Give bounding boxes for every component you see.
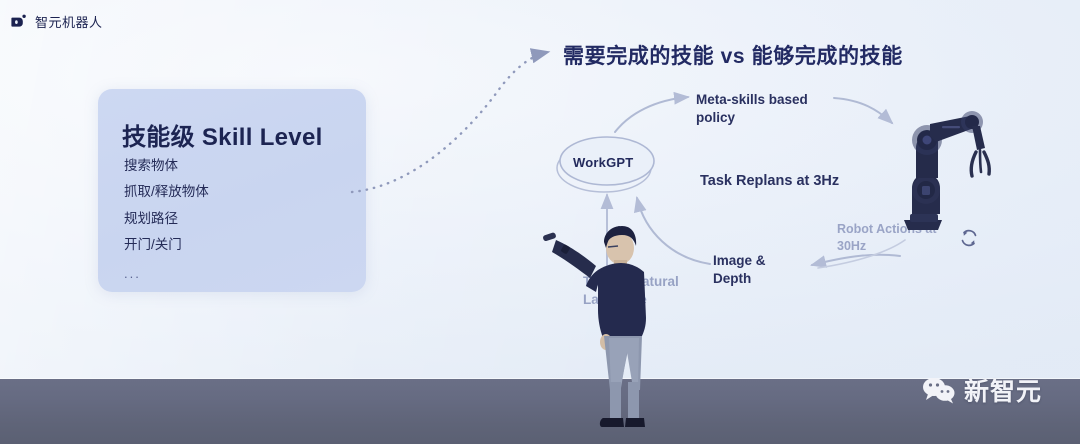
label-meta-skills-policy: Meta-skills based policy [696, 91, 821, 127]
robot-arm-icon [886, 102, 1002, 234]
list-item: 抓取/释放物体 [124, 182, 209, 202]
skill-list: 搜索物体 抓取/释放物体 规划路径 开门/关门 ... [124, 156, 209, 284]
refresh-loop-icon [958, 227, 980, 249]
list-item: 规划路径 [124, 209, 209, 229]
presenter-figure [540, 222, 658, 435]
watermark: 新智元 [922, 372, 1042, 408]
skill-level-panel: 技能级 Skill Level 搜索物体 抓取/释放物体 规划路径 开门/关门 … [98, 89, 366, 292]
label-image-depth: Image & Depth [713, 252, 803, 288]
brand-logo: 智元机器人 [10, 12, 103, 31]
list-item: 搜索物体 [124, 156, 209, 176]
wechat-icon [922, 376, 956, 404]
label-task-replans: Task Replans at 3Hz [700, 172, 839, 192]
list-item-ellipsis: ... [124, 261, 209, 284]
presentation-screenshot: 智元机器人 技能级 Skill Level 搜索物体 抓取/释放物体 规划路径 … [0, 0, 1080, 444]
brand-name: 智元机器人 [35, 12, 103, 31]
robot-head-logo-icon [10, 13, 28, 31]
list-item: 开门/关门 [124, 235, 209, 255]
watermark-text: 新智元 [964, 372, 1042, 408]
page-title: 需要完成的技能 vs 能够完成的技能 [563, 40, 903, 70]
panel-title: 技能级 Skill Level [122, 117, 323, 152]
workgpt-node-label: WorkGPT [573, 154, 633, 172]
